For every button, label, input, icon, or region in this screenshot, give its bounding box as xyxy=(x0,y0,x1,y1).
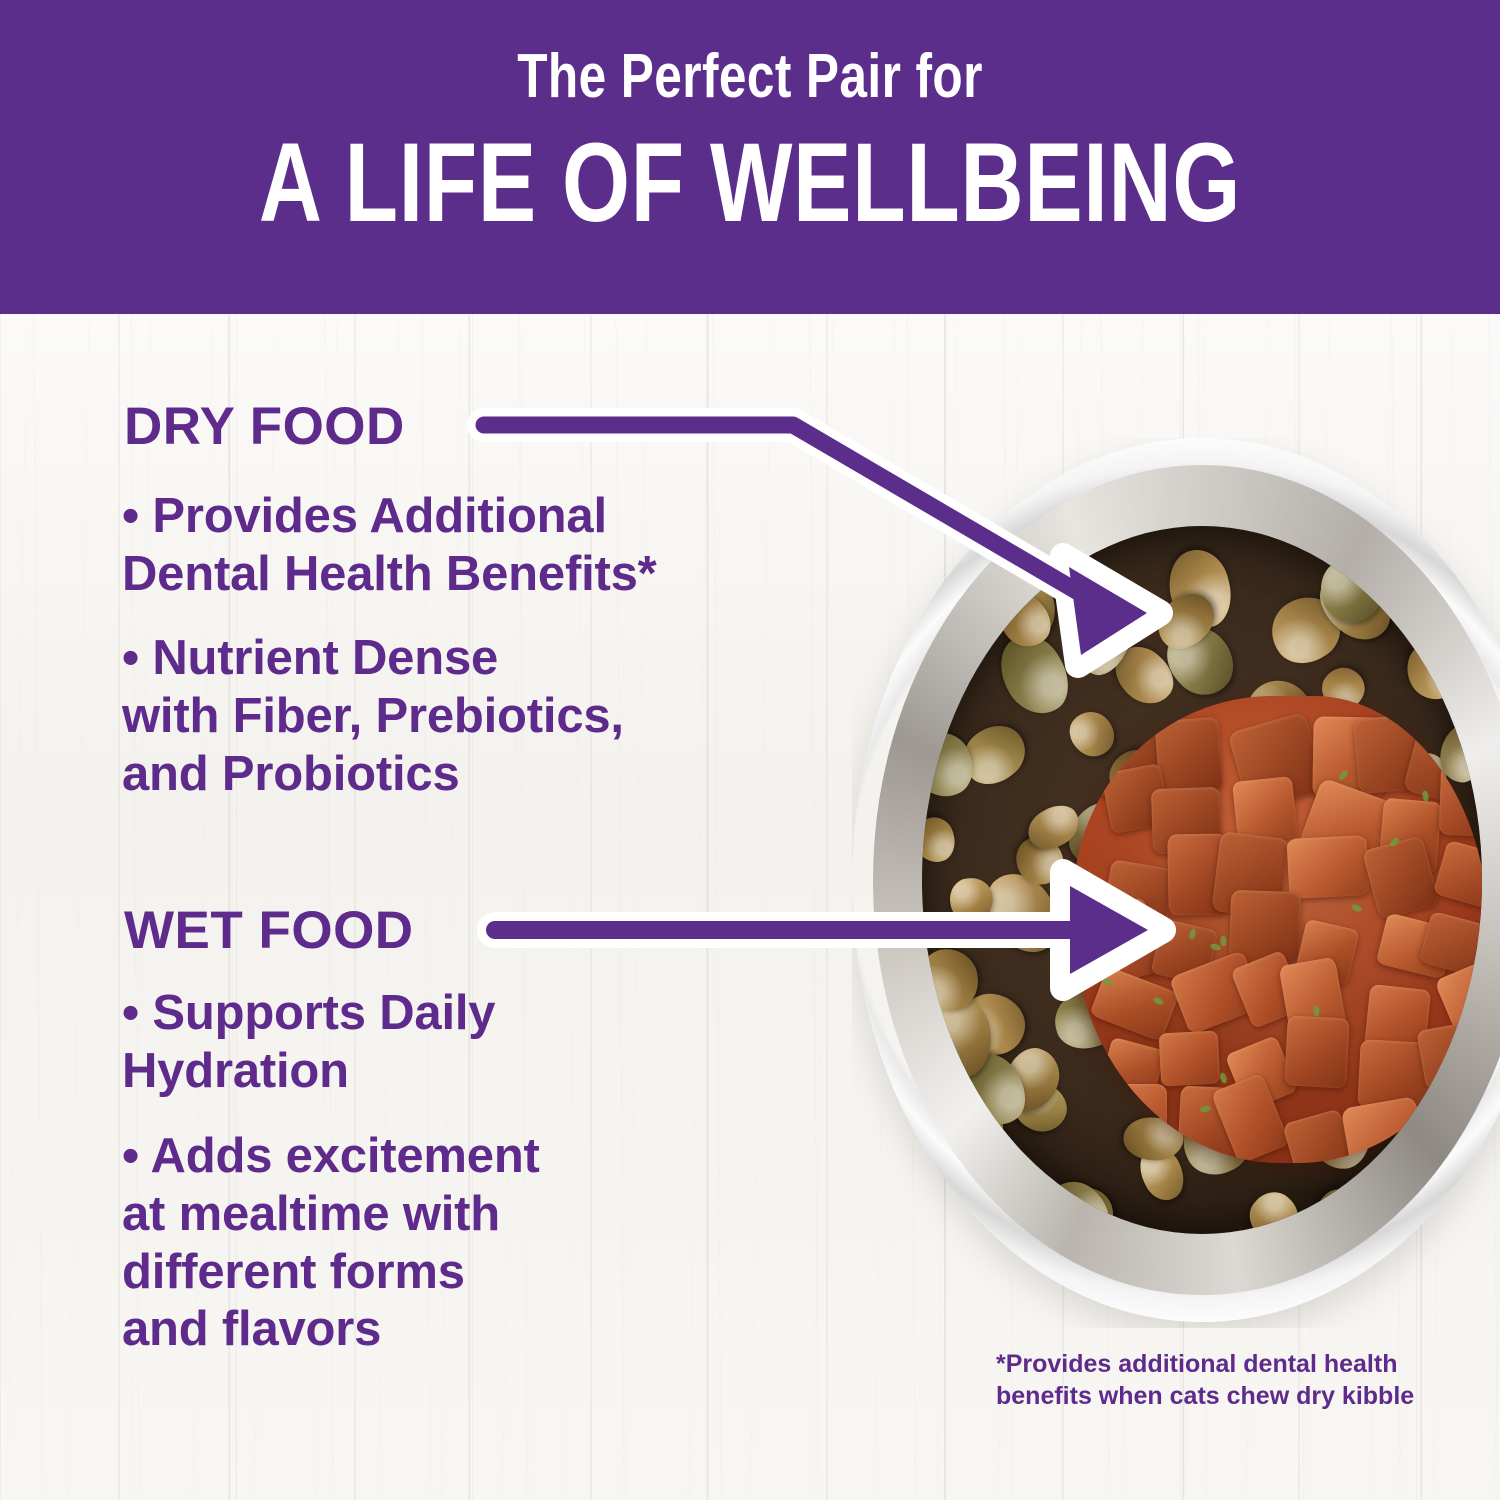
kibble-piece xyxy=(922,813,959,867)
wet-food-chunk xyxy=(1159,1031,1221,1087)
kibble-piece xyxy=(1309,1180,1374,1233)
poster-canvas: The Perfect Pair for A LIFE OF WELLBEING xyxy=(0,0,1500,1500)
bullet-line: and Probiotics xyxy=(122,746,822,804)
footnote-line: benefits when cats chew dry kibble xyxy=(996,1380,1456,1412)
bullet-line: at mealtime with xyxy=(122,1186,822,1244)
header-banner: The Perfect Pair for A LIFE OF WELLBEING xyxy=(0,0,1500,314)
bullet-line: Dental Health Benefits* xyxy=(122,546,822,604)
header-eyebrow: The Perfect Pair for xyxy=(150,46,1350,108)
wet-food-pile xyxy=(1073,696,1482,1163)
wet-food-chunk xyxy=(1091,1084,1167,1154)
dry-food-bullet-2: • Nutrient Dense with Fiber, Prebiotics,… xyxy=(122,630,822,803)
kibble-piece xyxy=(922,550,1005,645)
food-bowl-image xyxy=(852,438,1500,1328)
wet-food-chunk xyxy=(1090,966,1180,1042)
wet-food-chunk xyxy=(1286,835,1369,899)
section-heading-dry-food: DRY FOOD xyxy=(124,396,405,457)
wet-food-chunk xyxy=(1433,840,1482,915)
kibble-piece xyxy=(1240,1183,1307,1233)
wet-food-bullet-2: • Adds excitement at mealtime with diffe… xyxy=(122,1128,822,1359)
bullet-line: and flavors xyxy=(122,1301,822,1359)
bullet-line: • Provides Additional xyxy=(122,488,822,546)
herb-fleck xyxy=(1350,903,1363,913)
page-title: A LIFE OF WELLBEING xyxy=(165,127,1335,239)
bullet-line: with Fiber, Prebiotics, xyxy=(122,688,822,746)
wet-food-bullet-1: • Supports Daily Hydration xyxy=(122,985,822,1101)
bullet-line: • Nutrient Dense xyxy=(122,630,822,688)
herb-fleck xyxy=(1219,1072,1228,1084)
wet-food-chunk xyxy=(1284,1015,1349,1088)
kibble-piece xyxy=(947,875,995,924)
bullet-line: different forms xyxy=(122,1244,822,1302)
herb-fleck xyxy=(1118,949,1129,956)
dry-food-bullet-1: • Provides Additional Dental Health Bene… xyxy=(122,488,822,604)
bowl-rim xyxy=(852,438,1500,1322)
footnote-line: *Provides additional dental health xyxy=(996,1348,1456,1380)
wet-food-chunk xyxy=(1155,717,1224,796)
kibble-piece xyxy=(1398,632,1473,709)
bullet-line: Hydration xyxy=(122,1043,822,1101)
bowl-interior xyxy=(922,526,1482,1233)
bullet-line: • Adds excitement xyxy=(122,1128,822,1186)
herb-fleck xyxy=(1094,719,1105,725)
section-heading-wet-food: WET FOOD xyxy=(124,900,414,961)
wet-food-chunk xyxy=(1341,1096,1429,1162)
herb-fleck xyxy=(1220,935,1227,946)
herb-fleck xyxy=(1313,1005,1320,1016)
wet-food-chunk xyxy=(1439,764,1482,837)
bullet-line: • Supports Daily xyxy=(122,985,822,1043)
footnote: *Provides additional dental health benef… xyxy=(996,1348,1456,1412)
